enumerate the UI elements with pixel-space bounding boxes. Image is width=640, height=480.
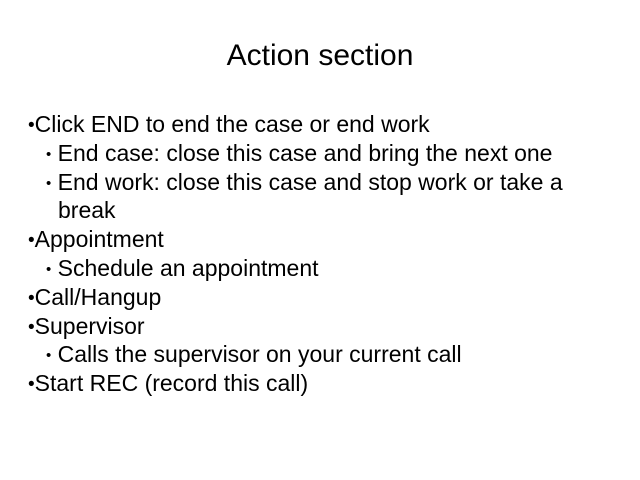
list-item: • End work: close this case and stop wor…	[28, 168, 612, 226]
list-item: •Supervisor	[28, 312, 612, 341]
list-item: • Schedule an appointment	[28, 254, 612, 283]
bullet-list: •Click END to end the case or end work •…	[28, 110, 612, 398]
list-item-label: Supervisor	[35, 313, 145, 339]
list-item-label: Call/Hangup	[35, 284, 162, 310]
list-item: •Call/Hangup	[28, 283, 612, 312]
list-item-label: Calls the supervisor on your current cal…	[58, 341, 462, 367]
list-item: •Click END to end the case or end work	[28, 110, 612, 139]
list-item-label: End case: close this case and bring the …	[58, 140, 553, 166]
list-item-label: Start REC (record this call)	[35, 370, 309, 396]
list-item: • End case: close this case and bring th…	[28, 139, 612, 168]
list-item-label: End work: close this case and stop work …	[58, 169, 563, 224]
bullet-icon: •	[28, 230, 35, 251]
list-item: •Start REC (record this call)	[28, 369, 612, 398]
list-item: • Calls the supervisor on your current c…	[28, 340, 612, 369]
list-item-label: Appointment	[35, 226, 164, 252]
bullet-icon: •	[28, 115, 35, 136]
bullet-icon: •	[28, 317, 35, 338]
list-item-label: Click END to end the case or end work	[35, 111, 430, 137]
bullet-icon: •	[28, 288, 35, 309]
slide-canvas: Action section •Click END to end the cas…	[0, 0, 640, 480]
list-item: •Appointment	[28, 225, 612, 254]
page-title: Action section	[0, 38, 640, 74]
list-item-label: Schedule an appointment	[58, 255, 319, 281]
bullet-icon: •	[28, 374, 35, 395]
